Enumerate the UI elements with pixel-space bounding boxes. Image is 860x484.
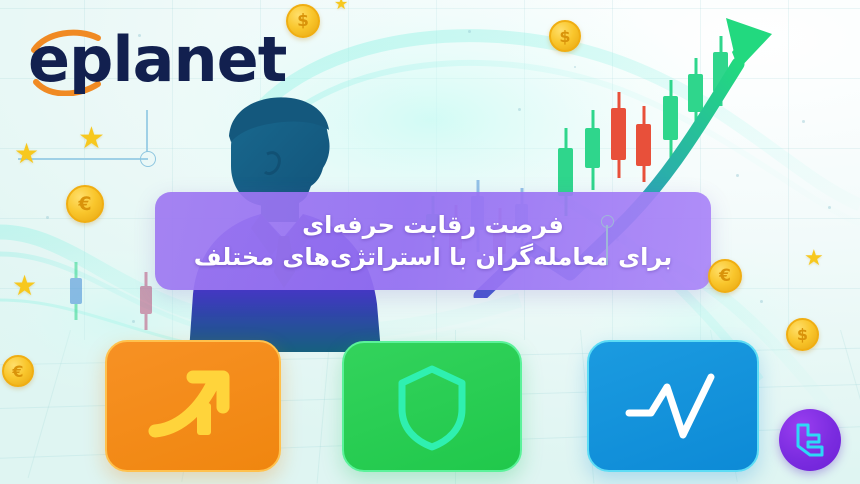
headline-banner: فرصت رقابت حرفه‌ای برای معامله‌گران با ا… (155, 192, 711, 290)
coin-euro-icon: € (708, 259, 742, 293)
logo-wordmark: eplanet (28, 24, 286, 96)
eplanet-logo[interactable]: eplanet (22, 24, 332, 96)
coin-dollar-icon: $ (786, 318, 819, 351)
volatility-line-icon (623, 369, 723, 443)
eplanet-badge[interactable] (779, 409, 841, 471)
coin-euro-icon: € (66, 185, 104, 223)
growth-arrow-icon (147, 365, 239, 447)
star-icon: ★ (334, 0, 348, 12)
coin-dollar-icon: $ (286, 4, 320, 38)
coin-euro-icon: € (2, 355, 34, 387)
measure-line-stem-secondary (606, 225, 608, 265)
star-icon: ★ (14, 140, 39, 168)
measure-node-secondary-icon (601, 215, 614, 228)
headline-line-1: فرصت رقابت حرفه‌ای (302, 210, 564, 240)
coin-dollar-icon: $ (549, 20, 581, 52)
headline-line-2: برای معامله‌گران با استراتژی‌های مختلف (194, 242, 673, 272)
star-icon: ★ (804, 248, 824, 270)
feature-card-volatility[interactable] (587, 340, 759, 472)
star-icon: ★ (78, 124, 105, 154)
promo-banner-image: فرصت رقابت حرفه‌ای برای معامله‌گران با ا… (0, 0, 860, 484)
feature-card-security[interactable] (342, 341, 522, 472)
feature-card-growth[interactable] (105, 340, 281, 472)
eplanet-monogram-icon (793, 422, 827, 458)
shield-icon (394, 363, 470, 451)
star-icon: ★ (12, 272, 37, 300)
